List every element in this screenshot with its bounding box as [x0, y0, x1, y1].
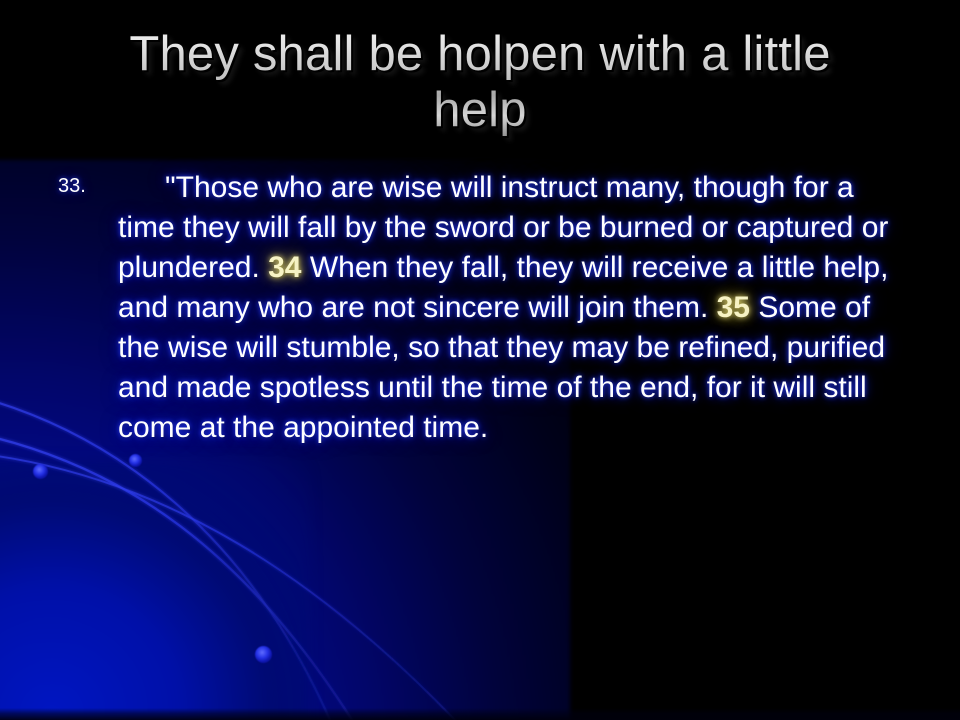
arc-line-2 [0, 430, 352, 720]
title-line-2: help [433, 83, 526, 137]
glow-dot-upper-left [33, 464, 48, 479]
corner-glow-inner [0, 460, 310, 720]
bottom-edge-shade [0, 708, 960, 720]
scripture-paragraph: 33."Those who are wise will instruct man… [52, 168, 892, 448]
glow-dot-lower [255, 646, 272, 663]
glow-dot-upper-mid [129, 454, 142, 467]
verse-number-35: 35 [717, 291, 750, 324]
verse-number-34: 34 [268, 251, 301, 284]
slide-canvas: They shall be holpen with a little help … [0, 0, 960, 720]
list-marker: 33. [58, 174, 86, 198]
title-line-1: They shall be holpen with a little [129, 27, 830, 81]
page-title: They shall be holpen with a little help [30, 26, 930, 138]
arc-line-3 [0, 455, 455, 720]
body-text-block: 33."Those who are wise will instruct man… [52, 168, 892, 448]
